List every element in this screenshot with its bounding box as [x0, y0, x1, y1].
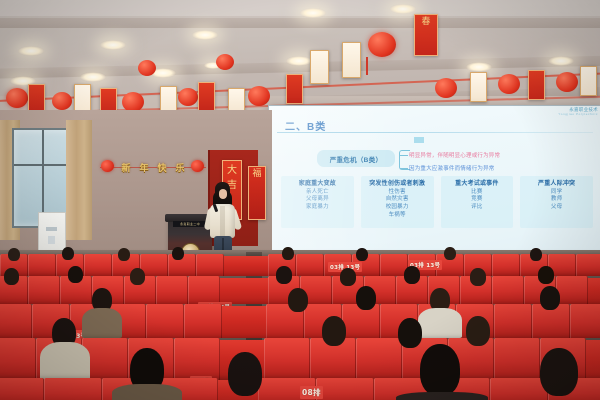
ceiling-downlight [192, 30, 218, 40]
ceiling-downlight [300, 8, 326, 18]
hanging-couplet [198, 82, 215, 112]
audience-shoulders [418, 308, 462, 338]
lecture-hall-photo: 春 永嘉职业技术 Yongjiao Polytechnic 二、B类 严重危机（… [0, 0, 600, 400]
audience-head [68, 266, 83, 283]
audience-head [4, 268, 19, 285]
red-lantern [216, 54, 234, 70]
red-lantern [52, 92, 72, 110]
dispenser-panel [46, 227, 57, 231]
banner-char: 新 [121, 161, 130, 174]
hanging-couplet [28, 84, 45, 112]
hanging-couplet [342, 42, 361, 78]
slide-node-severe-crisis: 严重危机（B类） [317, 150, 395, 167]
column-header: 重大考试或事件 [442, 178, 513, 187]
ceiling-downlight [466, 62, 492, 72]
banner-char: 快 [157, 161, 166, 174]
red-lantern [556, 72, 578, 92]
ceiling-downlight [390, 4, 416, 14]
red-lantern [122, 92, 144, 112]
audience-head [540, 286, 560, 310]
audience-head [340, 268, 356, 286]
seat [494, 304, 532, 338]
seat [0, 378, 44, 400]
seat [492, 276, 524, 304]
seat [570, 304, 600, 338]
column-header: 家庭重大变故 [282, 178, 353, 187]
hanging-couplet [310, 50, 329, 84]
audience-head [398, 318, 422, 348]
ceiling-downlight [80, 72, 106, 82]
audience-head [470, 268, 486, 286]
seat [492, 254, 520, 276]
red-lantern [248, 86, 270, 106]
audience-head [118, 248, 130, 261]
stage-couplet: 福 [248, 166, 266, 220]
seat [28, 276, 60, 304]
school-logo: 永嘉职业技术 Yongjiao Polytechnic [558, 107, 598, 116]
audience-head [276, 266, 292, 284]
slide-column: 严重人际冲突 同学 教师 父母 [520, 176, 593, 228]
banner-char: 乐 [175, 161, 184, 174]
slide-title: 二、B类 [285, 118, 326, 133]
banner-lantern-icon [101, 160, 114, 172]
audience-head [62, 247, 74, 260]
seat [0, 338, 36, 380]
column-item: 家庭暴力 [282, 204, 353, 212]
seat [188, 276, 220, 304]
red-lantern [6, 88, 28, 108]
red-lantern [498, 74, 520, 94]
slide-column: 家庭重大变故 亲人死亡 父母离异 家庭暴力 [281, 176, 354, 228]
audience-head [404, 266, 420, 284]
slide-column: 突发性创伤或者刺激 性伤害 自然灾害 校园暴力 车祸等 [361, 176, 434, 228]
hanging-couplet [286, 74, 303, 104]
new-year-banner: 新 年 快 乐 [100, 155, 206, 181]
column-item: 车祸等 [362, 212, 433, 220]
seat [84, 254, 112, 276]
red-lantern [368, 32, 396, 57]
audience-head [228, 352, 262, 396]
seat [156, 276, 188, 304]
window-mullion [14, 164, 74, 166]
audience-head [356, 286, 376, 310]
slide-branch-1: 明显异常，伴随明显心理或行为异常 [409, 151, 500, 159]
ceiling-downlight [286, 56, 312, 66]
audience-shoulders [40, 342, 90, 380]
seat [174, 338, 220, 380]
slide-surface: 永嘉职业技术 Yongjiao Polytechnic 二、B类 严重危机（B类… [269, 106, 600, 266]
hanging-couplet [528, 70, 545, 100]
window-curtain-right [66, 120, 92, 240]
audience-shoulders [82, 308, 122, 338]
hanging-couplet [470, 72, 487, 102]
audience-head [420, 344, 460, 396]
seat [494, 338, 540, 380]
title-divider [277, 132, 593, 133]
slide-branch-2: 因为重大应激事件而情绪行为异常 [409, 164, 495, 172]
audience-head [530, 248, 542, 261]
dispenser-spout [48, 236, 55, 244]
seat [556, 276, 588, 304]
red-lantern [435, 78, 457, 98]
audience-head [466, 316, 490, 346]
lantern-tassel [366, 57, 368, 75]
audience-head [538, 266, 554, 284]
seat [576, 254, 600, 276]
accent-square [414, 137, 424, 143]
audience-head [282, 247, 294, 260]
seat [490, 378, 548, 400]
banner-lantern-icon [191, 160, 204, 172]
audience-head [288, 288, 308, 312]
seat-tag: 08排 [300, 386, 323, 399]
hanging-couplet-spring: 春 [414, 14, 438, 56]
ceiling-downlight [100, 40, 126, 50]
ceiling-downlight [18, 46, 44, 56]
seat [316, 378, 374, 400]
seat [146, 304, 184, 338]
slide-category-columns: 家庭重大变故 亲人死亡 父母离异 家庭暴力 突发性创伤或者刺激 性伤害 自然灾害… [281, 176, 593, 228]
ceiling-downlight [548, 56, 574, 66]
audience-head [322, 316, 346, 346]
seat [44, 378, 102, 400]
red-lantern [178, 88, 198, 106]
podium-plaque: 永嘉职业二中 [173, 221, 207, 227]
seat [296, 254, 324, 276]
slide-column: 重大考试或事件 比赛 竞赛 评比 [441, 176, 514, 228]
column-item: 评比 [442, 204, 513, 212]
audience-seating: 03排 13号 03排 13号 05排 12号 05排 12号 05排 13号 [0, 252, 600, 400]
audience-shoulders [396, 392, 488, 400]
audience-head [444, 247, 456, 260]
ceiling-beam [0, 18, 600, 28]
audience-head [172, 247, 184, 260]
column-item: 父母 [521, 204, 592, 212]
presenter-face [219, 189, 227, 199]
column-header: 严重人际冲突 [521, 178, 592, 187]
banner-characters: 新 年 快 乐 [117, 161, 189, 174]
seat [264, 338, 310, 380]
hanging-couplet [580, 66, 597, 96]
projection-screen: 永嘉职业技术 Yongjiao Polytechnic 二、B类 严重危机（B类… [268, 105, 600, 267]
seat [184, 304, 222, 338]
audience-head [130, 268, 145, 285]
seat [28, 254, 56, 276]
seat [356, 338, 402, 380]
audience-head [540, 348, 578, 396]
banner-char: 年 [139, 161, 148, 174]
red-lantern [138, 60, 156, 76]
audience-head [356, 248, 368, 261]
seat [196, 254, 224, 276]
audience-head [8, 248, 20, 261]
column-header: 突发性创伤或者刺激 [362, 178, 433, 187]
seat [0, 304, 32, 338]
audience-shoulders [112, 384, 182, 400]
